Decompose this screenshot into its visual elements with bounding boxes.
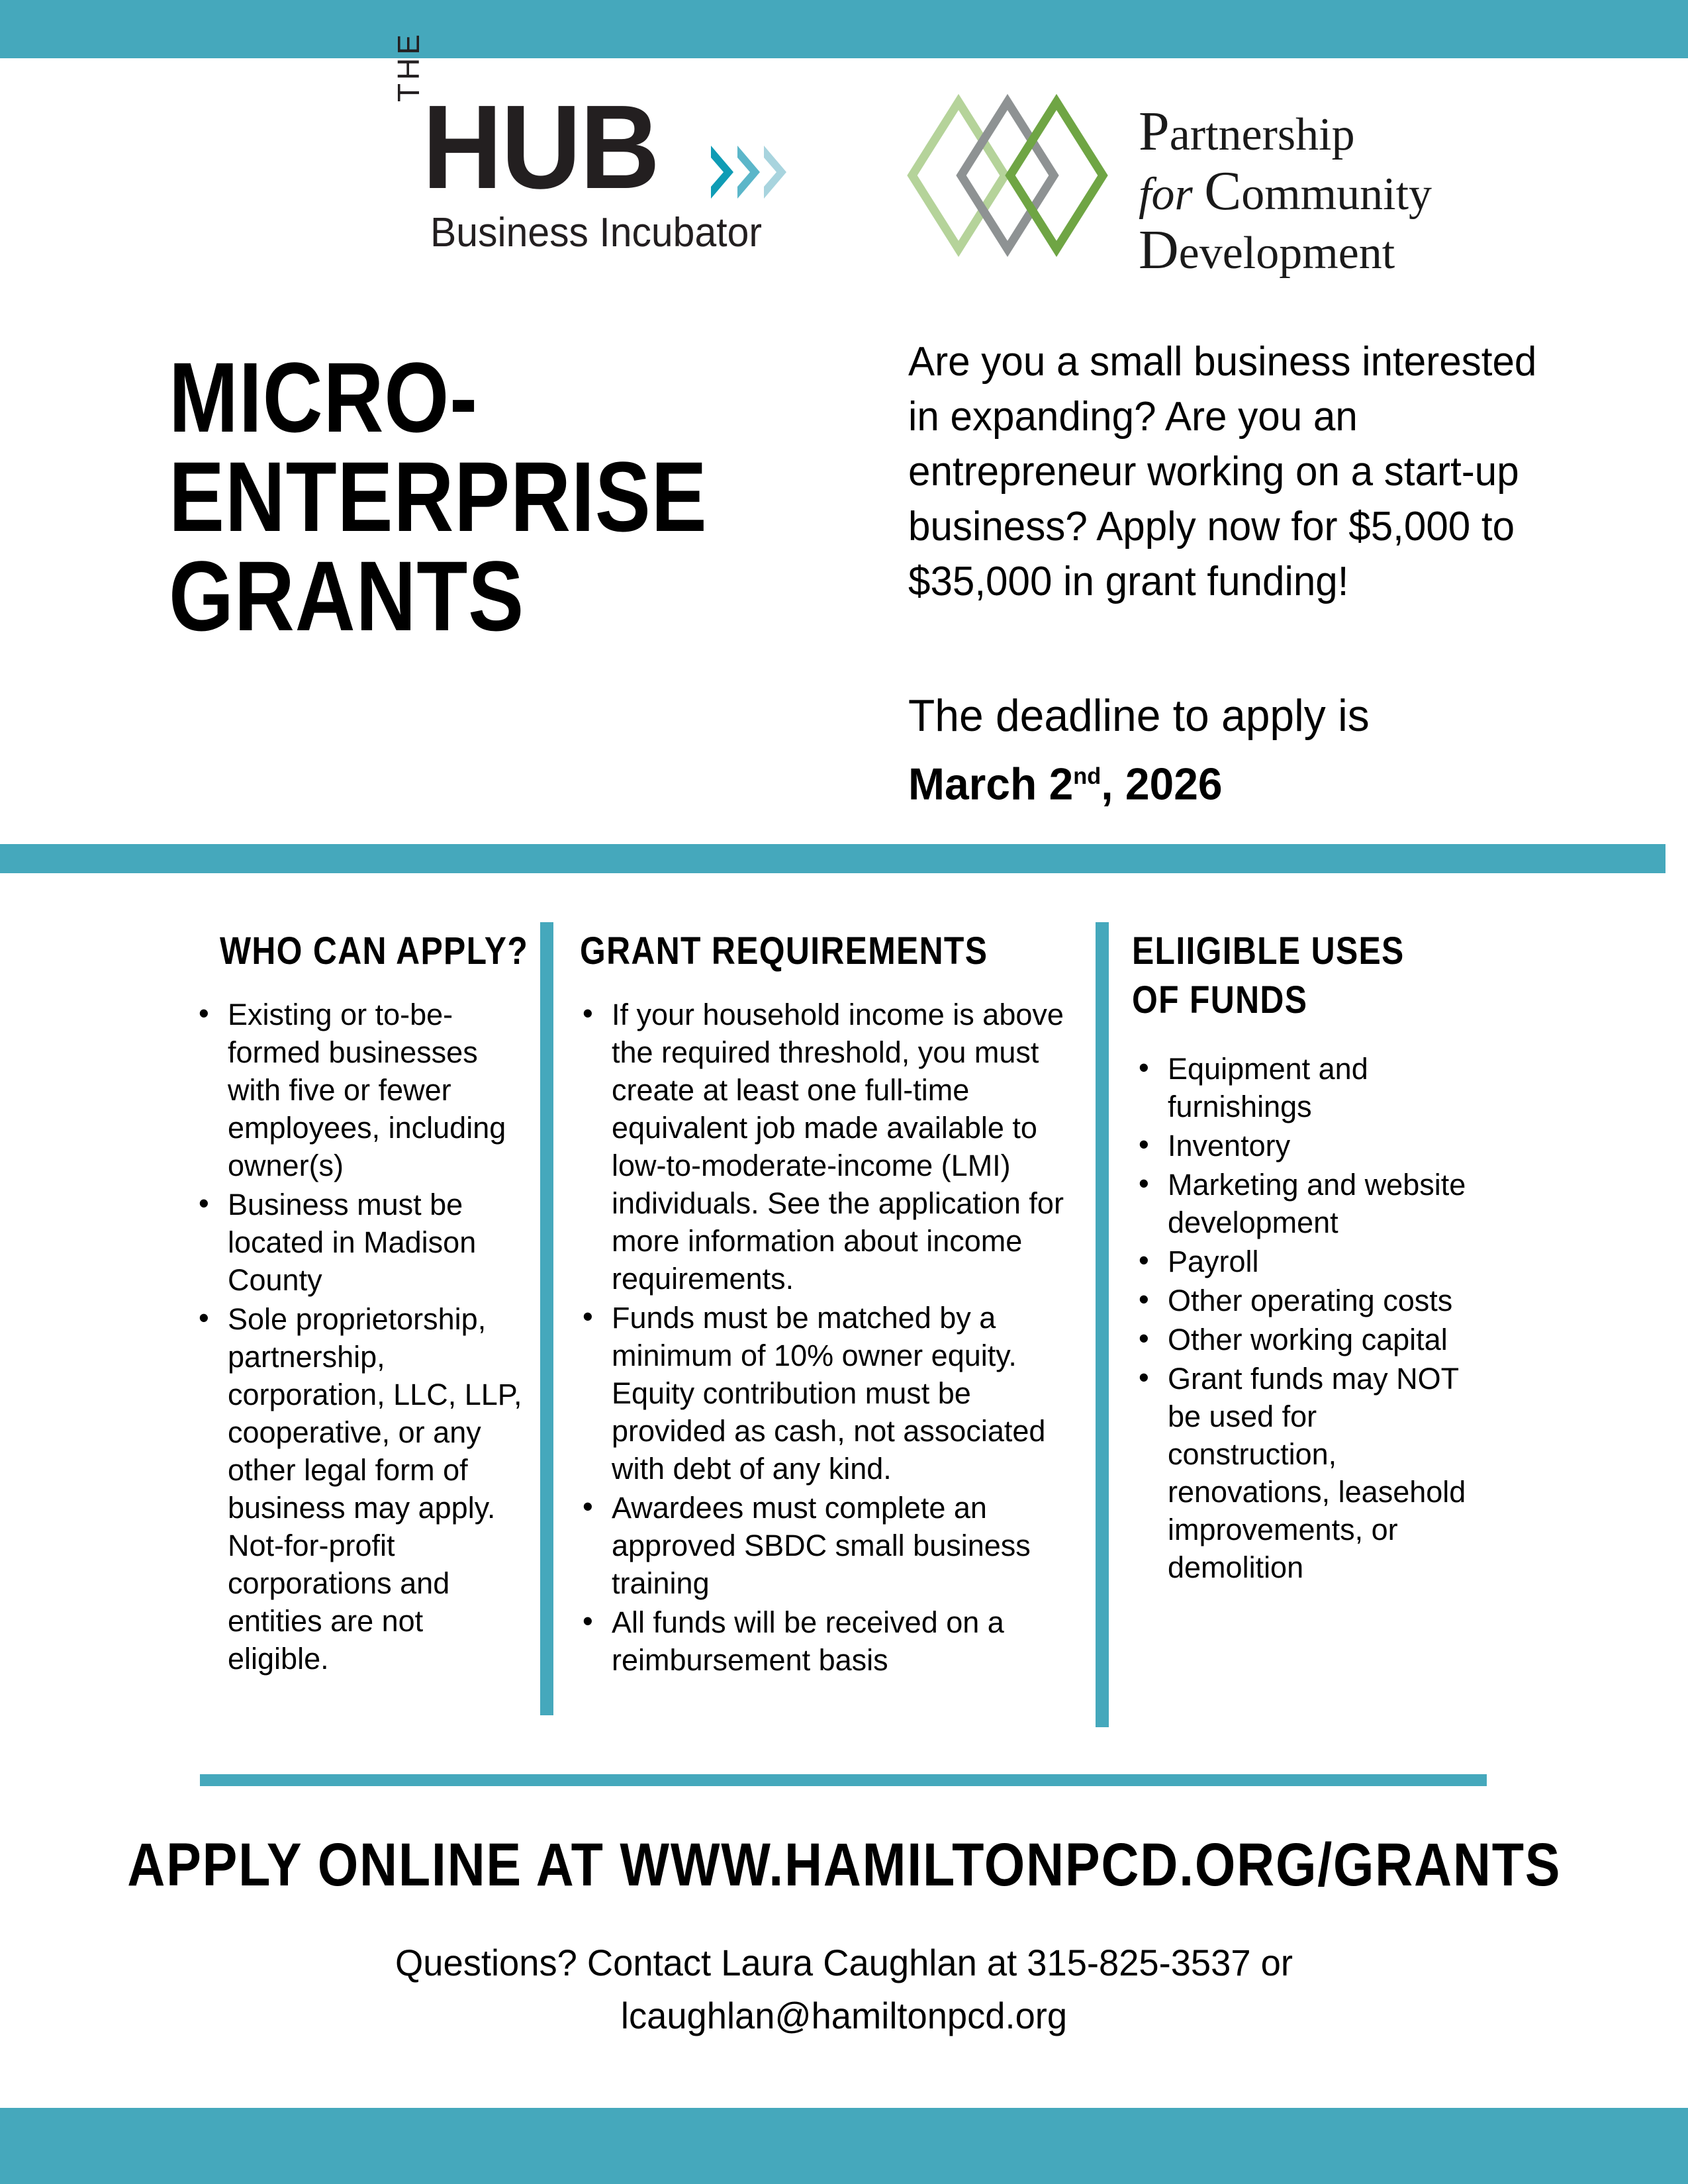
logo-row: THE HUB Business Incubator Partnership f… — [0, 78, 1688, 290]
list-item: Inventory — [1132, 1127, 1489, 1164]
title-line-3: GRANTS — [169, 546, 758, 645]
list-item: Funds must be matched by a minimum of 10… — [576, 1299, 1086, 1488]
deadline-ordinal: nd — [1073, 763, 1101, 789]
deadline-date: March 2nd, 2026 — [908, 746, 1557, 815]
title-line-1: MICRO- — [169, 348, 758, 447]
column-2-heading: GRANT REQUIREMENTS — [580, 927, 1015, 976]
bottom-accent-bar — [0, 2108, 1688, 2184]
column-2-list: If your household income is above the re… — [576, 996, 1086, 1679]
hub-chevrons-icon — [711, 146, 786, 199]
diamonds-icon — [907, 93, 1132, 258]
apply-online-cta: APPLY ONLINE AT WWW.HAMILTONPCD.ORG/GRAN… — [0, 1830, 1688, 1899]
hub-wordmark: HUB — [422, 93, 659, 202]
chevron-right-icon — [764, 146, 786, 199]
pcd-line-2: for Community — [1139, 163, 1432, 220]
pcd-line-3: Development — [1139, 222, 1432, 279]
list-item: Marketing and website development — [1132, 1166, 1489, 1241]
list-item: Existing or to-be-formed businesses with… — [192, 996, 530, 1184]
contact-line-2: lcaughlan@hamiltonpcd.org — [25, 1989, 1663, 2042]
partnership-for-community-development-logo: Partnership for Community Development — [907, 93, 1436, 278]
deadline-year: , 2026 — [1101, 759, 1222, 810]
list-item: All funds will be received on a reimburs… — [576, 1603, 1086, 1679]
deadline-prefix: The deadline to apply is — [908, 685, 1557, 746]
hub-subtitle: Business Incubator — [430, 209, 762, 256]
column-1-heading: WHO CAN APPLY? — [220, 927, 486, 976]
deadline-month-day: March 2 — [908, 759, 1073, 810]
chevron-right-icon — [737, 146, 760, 199]
title-line-2: ENTERPRISE — [169, 447, 758, 546]
contact-line-1: Questions? Contact Laura Caughlan at 315… — [25, 1936, 1663, 1989]
column-1-list: Existing or to-be-formed businesses with… — [192, 996, 530, 1678]
list-item: Other working capital — [1132, 1321, 1489, 1358]
column-eligible-uses: ELIIGIBLE USES OF FUNDS Equipment and fu… — [1132, 927, 1489, 1588]
hub-the-text: THE — [391, 31, 426, 102]
list-item: If your household income is above the re… — [576, 996, 1086, 1298]
list-item: Grant funds may NOT be used for construc… — [1132, 1360, 1489, 1586]
column-3-list: Equipment and furnishings Inventory Mark… — [1132, 1050, 1489, 1586]
intro-paragraph: Are you a small business interested in e… — [908, 334, 1550, 609]
list-item: Equipment and furnishings — [1132, 1050, 1489, 1125]
column-divider-2 — [1096, 922, 1109, 1727]
hub-business-incubator-logo: THE HUB Business Incubator — [391, 85, 854, 283]
cta-text: APPLY ONLINE AT WWW.HAMILTONPCD.ORG/GRAN… — [127, 1830, 1561, 1899]
pcd-line-1: Partnership — [1139, 103, 1432, 160]
list-item: Awardees must complete an approved SBDC … — [576, 1489, 1086, 1602]
footer-rule — [200, 1774, 1487, 1786]
list-item: Other operating costs — [1132, 1282, 1489, 1319]
list-item: Business must be located in Madison Coun… — [192, 1186, 530, 1299]
chevron-right-icon — [711, 146, 733, 199]
top-accent-bar — [0, 0, 1688, 58]
contact-block: Questions? Contact Laura Caughlan at 315… — [0, 1936, 1688, 2042]
pcd-wordmark: Partnership for Community Development — [1139, 103, 1432, 279]
list-item: Payroll — [1132, 1243, 1489, 1280]
column-3-heading-line-2: OF FUNDS — [1132, 976, 1439, 1025]
flyer-page: THE HUB Business Incubator Partnership f… — [0, 0, 1688, 2184]
column-divider-1 — [540, 922, 553, 1715]
deadline-block: The deadline to apply is March 2nd, 2026 — [908, 685, 1557, 815]
column-3-heading-line-1: ELIIGIBLE USES — [1132, 927, 1439, 976]
middle-accent-bar — [0, 844, 1665, 873]
column-who-can-apply: WHO CAN APPLY? Existing or to-be-formed … — [192, 927, 530, 1679]
column-grant-requirements: GRANT REQUIREMENTS If your household inc… — [576, 927, 1086, 1680]
list-item: Sole proprietorship, partnership, corpor… — [192, 1300, 530, 1678]
page-title: MICRO- ENTERPRISE GRANTS — [169, 348, 870, 645]
